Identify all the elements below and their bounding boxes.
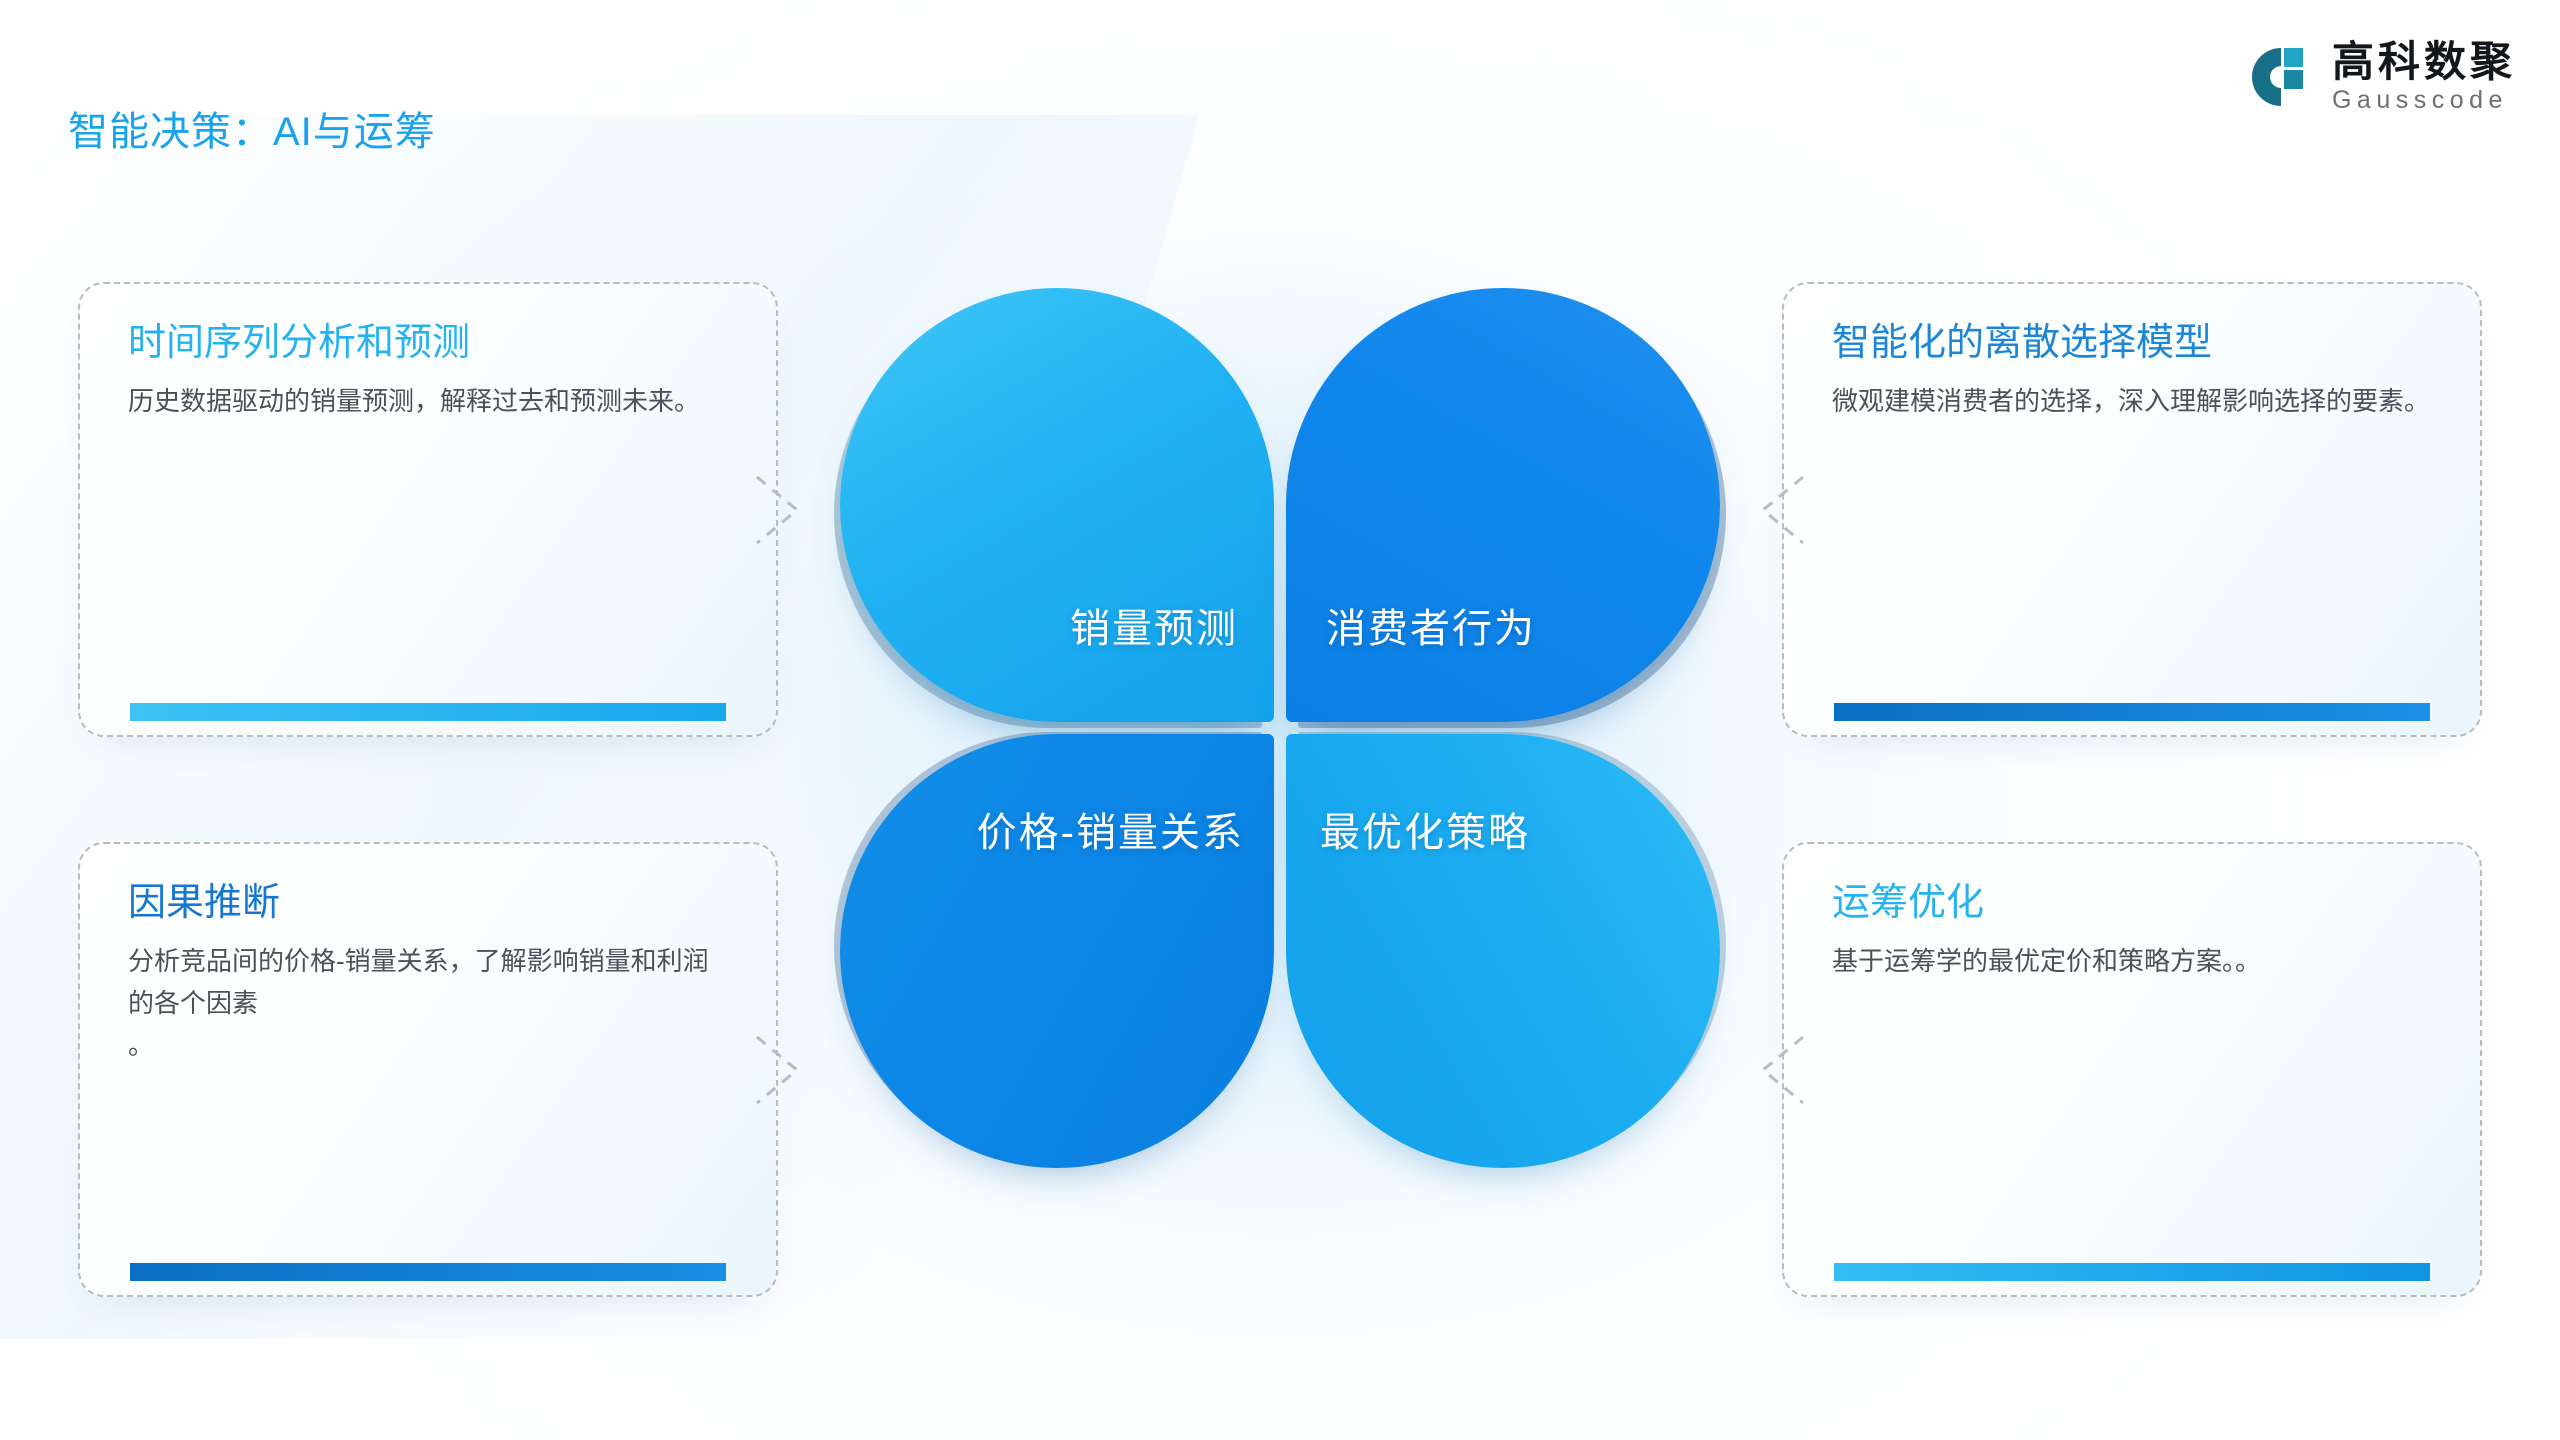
gausscode-logo-mark-icon — [2248, 44, 2314, 110]
card-title: 智能化的离散选择模型 — [1832, 320, 2212, 368]
info-card-bottom-left[interactable]: 因果推断 分析竞品间的价格-销量关系，了解影响销量和利润的各个因素 。 — [78, 842, 778, 1297]
petal-price-sales-relation[interactable]: 价格-销量关系 — [840, 734, 1274, 1168]
page-title: 智能决策：AI与运筹 — [68, 108, 436, 156]
card-accent-bar — [130, 703, 726, 721]
brand-logo: 高科数聚 Gausscode — [2248, 40, 2516, 115]
card-title: 因果推断 — [128, 880, 280, 928]
petal-consumer-behavior[interactable]: 消费者行为 — [1286, 288, 1720, 722]
petal-label: 价格-销量关系 — [977, 800, 1244, 858]
brand-name-en: Gausscode — [2332, 86, 2516, 115]
petal-label: 消费者行为 — [1326, 596, 1536, 654]
slide-canvas: 智能决策：AI与运筹 高科数聚 Gausscode 时间序列分析和预测 历史数据… — [0, 0, 2560, 1440]
card-description: 历史数据驱动的销量预测，解释过去和预测未来。 — [128, 380, 728, 422]
chevron-left-icon — [1759, 475, 1805, 545]
petal-label: 最优化策略 — [1320, 800, 1530, 858]
info-card-top-left[interactable]: 时间序列分析和预测 历史数据驱动的销量预测，解释过去和预测未来。 — [78, 282, 778, 737]
card-accent-bar — [1834, 1263, 2430, 1281]
chevron-left-icon — [1759, 1035, 1805, 1105]
petal-label: 销量预测 — [1070, 596, 1238, 654]
card-description: 分析竞品间的价格-销量关系，了解影响销量和利润的各个因素 。 — [128, 940, 728, 1066]
chevron-right-icon — [755, 1035, 801, 1105]
brand-name-cn: 高科数聚 — [2332, 40, 2516, 84]
card-accent-bar — [1834, 703, 2430, 721]
flower-diagram: 销量预测 消费者行为 价格-销量关系 最优化策略 — [830, 278, 1730, 1178]
chevron-right-icon — [755, 475, 801, 545]
info-card-top-right[interactable]: 智能化的离散选择模型 微观建模消费者的选择，深入理解影响选择的要素。 — [1782, 282, 2482, 737]
card-accent-bar — [130, 1263, 726, 1281]
card-title: 时间序列分析和预测 — [128, 320, 470, 368]
petal-sales-forecast[interactable]: 销量预测 — [840, 288, 1274, 722]
brand-text: 高科数聚 Gausscode — [2332, 40, 2516, 115]
card-description: 基于运筹学的最优定价和策略方案。。 — [1832, 940, 2432, 982]
card-title: 运筹优化 — [1832, 880, 1984, 928]
petal-optimization-strategy[interactable]: 最优化策略 — [1286, 734, 1720, 1168]
card-description: 微观建模消费者的选择，深入理解影响选择的要素。 — [1832, 380, 2432, 422]
info-card-bottom-right[interactable]: 运筹优化 基于运筹学的最优定价和策略方案。。 — [1782, 842, 2482, 1297]
